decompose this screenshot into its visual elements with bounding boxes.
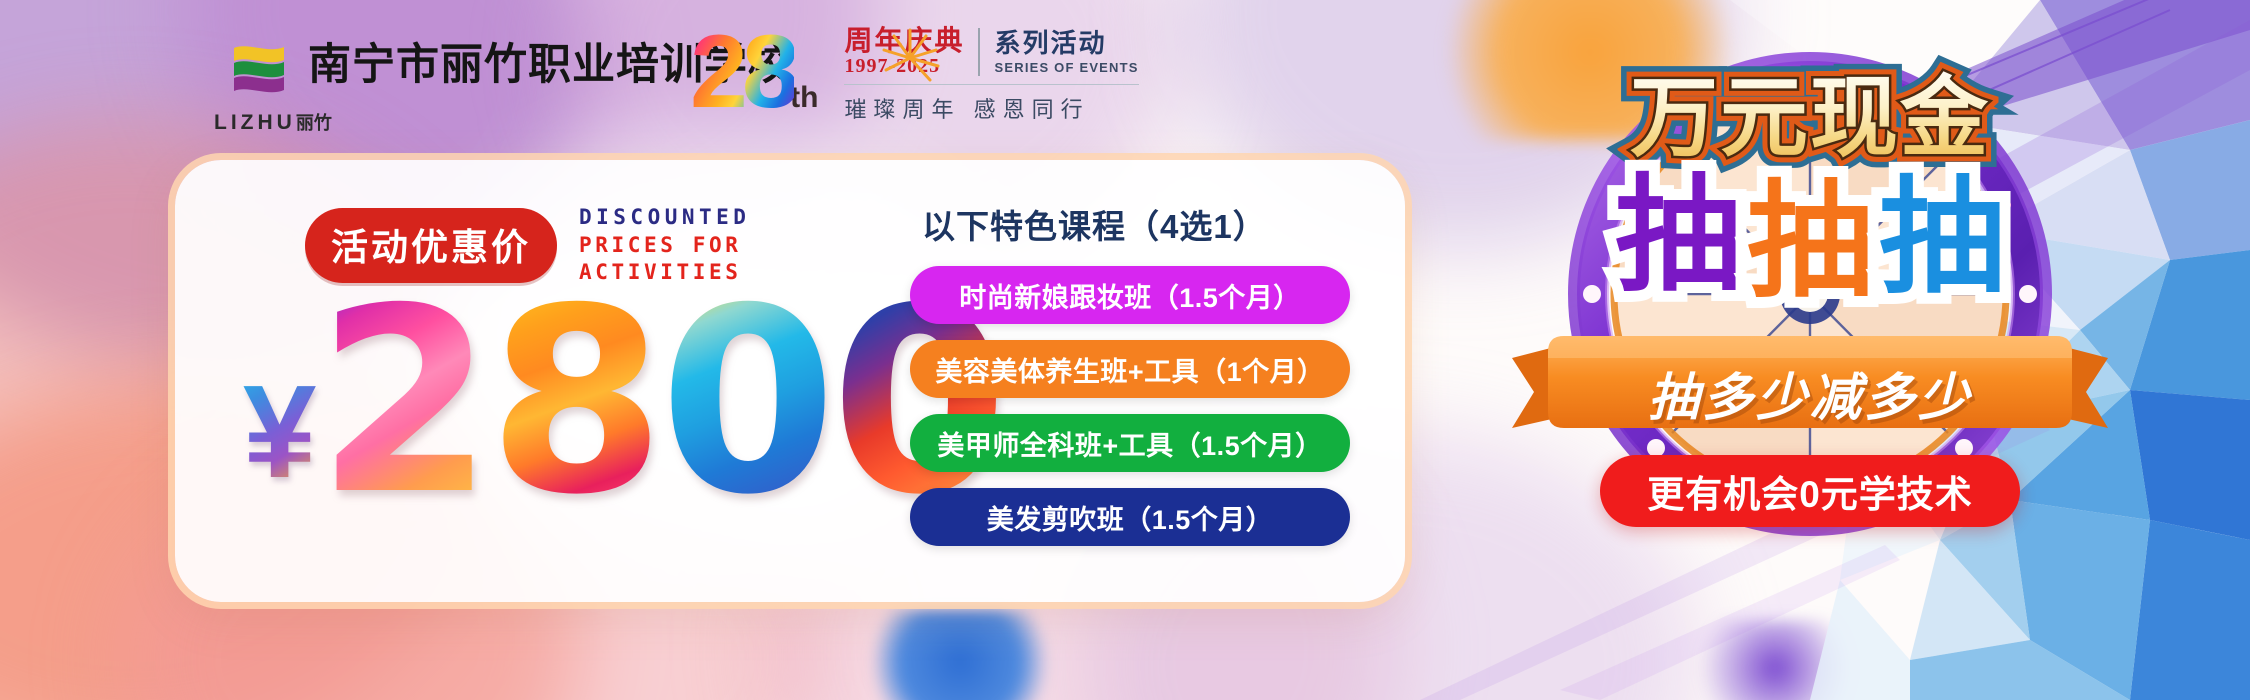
price-block: 活动优惠价 DISCOUNTED PRICES FOR ACTIVITIES ¥…	[235, 204, 875, 512]
logo-subtitle-en: LIZHU	[214, 111, 296, 134]
anniversary-ordinal: th	[790, 81, 818, 114]
course-list: 以下特色课程（4选1） 时尚新娘跟妆班（1.5个月） 美容美体养生班+工具（1个…	[910, 200, 1350, 562]
anniversary-lockup: 28 th	[690, 20, 1139, 124]
logo-subtitle: LIZHU丽竹	[214, 109, 332, 135]
course-option-hair-cutting[interactable]: 美发剪吹班（1.5个月）	[910, 488, 1350, 546]
currency-symbol: ¥	[243, 369, 316, 494]
price-digit: 0	[659, 293, 830, 512]
draw-character: 抽 抽	[1615, 170, 1741, 302]
draw-character: 抽 抽	[1747, 176, 1873, 308]
blue-blob-decoration	[870, 610, 1050, 700]
course-option-bridal-makeup[interactable]: 时尚新娘跟妆班（1.5个月）	[910, 266, 1350, 324]
anniversary-events-en: SERIES OF EVENTS	[994, 60, 1138, 75]
price-digit: 2	[316, 293, 487, 512]
anniversary-divider	[978, 28, 980, 76]
offer-card: 活动优惠价 DISCOUNTED PRICES FOR ACTIVITIES ¥…	[175, 160, 1405, 602]
anniversary-events-cn: 系列活动	[994, 29, 1138, 58]
banner-header: 南宁市丽竹职业培训学校 LIZHU丽竹 28 th	[0, 0, 2250, 130]
anniversary-number: 28	[690, 14, 794, 130]
price-digits: 2 8 0 0	[316, 293, 1002, 512]
price-digit: 8	[488, 293, 659, 512]
zero-cost-learning-badge: 更有机会0元学技术	[1600, 455, 2020, 527]
lottery-ribbon: 抽多少减多少	[1512, 328, 2108, 436]
sunburst-icon	[878, 26, 942, 90]
course-list-title: 以下特色课程（4选1）	[922, 200, 1350, 248]
lizhu-flag-logo-icon	[228, 38, 290, 100]
ribbon-text: 抽多少减多少	[1512, 356, 2108, 430]
price-amount: ¥ 2 8 0 0	[243, 293, 875, 512]
course-option-nail-art[interactable]: 美甲师全科班+工具（1.5个月）	[910, 414, 1350, 472]
logo-subtitle-cn: 丽竹	[296, 113, 332, 133]
lottery-draw-characters: 抽 抽 抽 抽 抽 抽	[1490, 170, 2130, 320]
promotional-banner: 南宁市丽竹职业培训学校 LIZHU丽竹 28 th	[0, 0, 2250, 700]
draw-character: 抽 抽	[1879, 172, 2005, 304]
promo-en-line1: DISCOUNTED	[579, 204, 875, 232]
course-option-beauty-wellness[interactable]: 美容美体养生班+工具（1个月）	[910, 340, 1350, 398]
anniversary-tagline: 璀璨周年 感恩同行	[844, 84, 1138, 124]
